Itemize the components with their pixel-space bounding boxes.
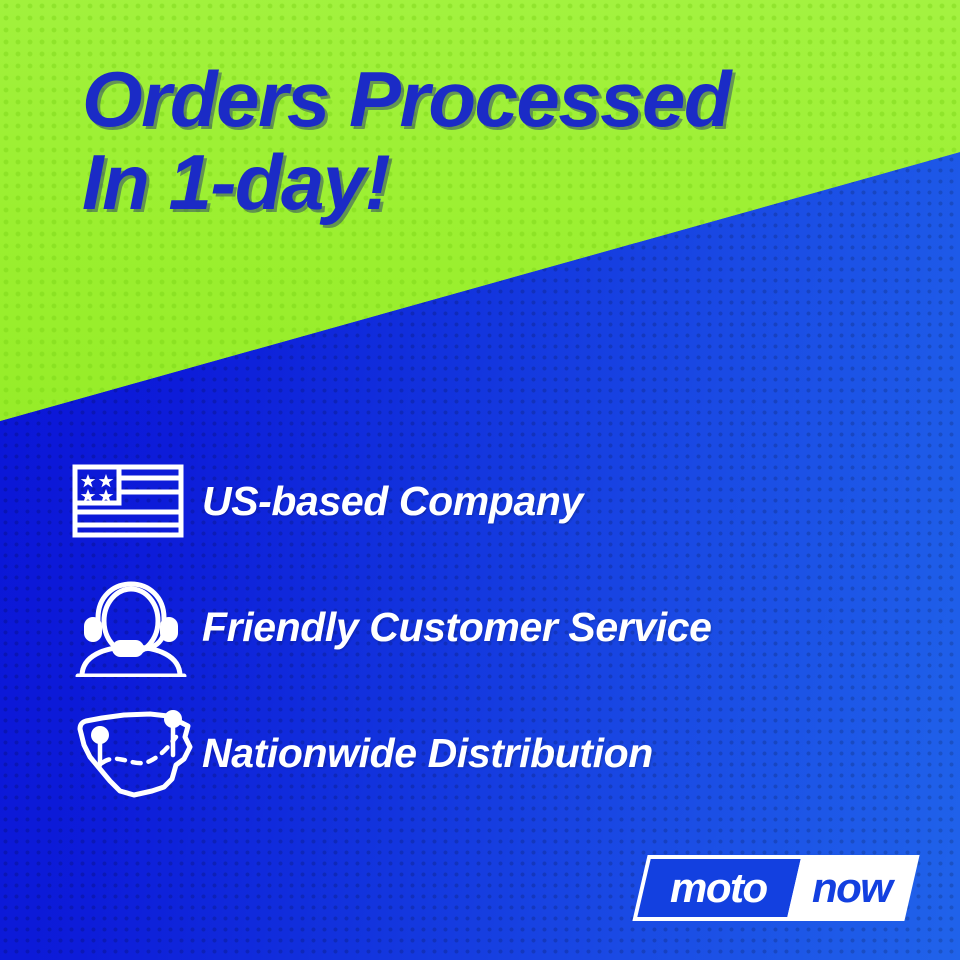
list-item-label: Friendly Customer Service xyxy=(202,604,712,651)
logo-right-panel: now xyxy=(788,859,915,917)
list-item: Nationwide Distribution xyxy=(72,690,912,816)
logo-word-moto: moto xyxy=(670,867,769,909)
list-item-label: Nationwide Distribution xyxy=(202,730,653,777)
page-title: Orders Processed In 1-day! xyxy=(82,58,912,223)
logo-word-now: now xyxy=(810,867,891,909)
logo-left-panel: moto xyxy=(637,859,801,917)
headset-agent-icon xyxy=(72,577,202,677)
list-item: Friendly Customer Service xyxy=(72,564,912,690)
motonow-logo: moto now xyxy=(632,855,919,921)
list-item: US-based Company xyxy=(72,438,912,564)
logo-inner: moto now xyxy=(637,859,914,917)
list-item-label: US-based Company xyxy=(202,478,583,525)
us-flag-icon xyxy=(72,464,202,538)
promo-graphic: Orders Processed In 1-day! xyxy=(0,0,960,960)
feature-list: US-based Company Friendly Customer Servi… xyxy=(72,438,912,816)
us-map-pins-icon xyxy=(72,707,202,799)
